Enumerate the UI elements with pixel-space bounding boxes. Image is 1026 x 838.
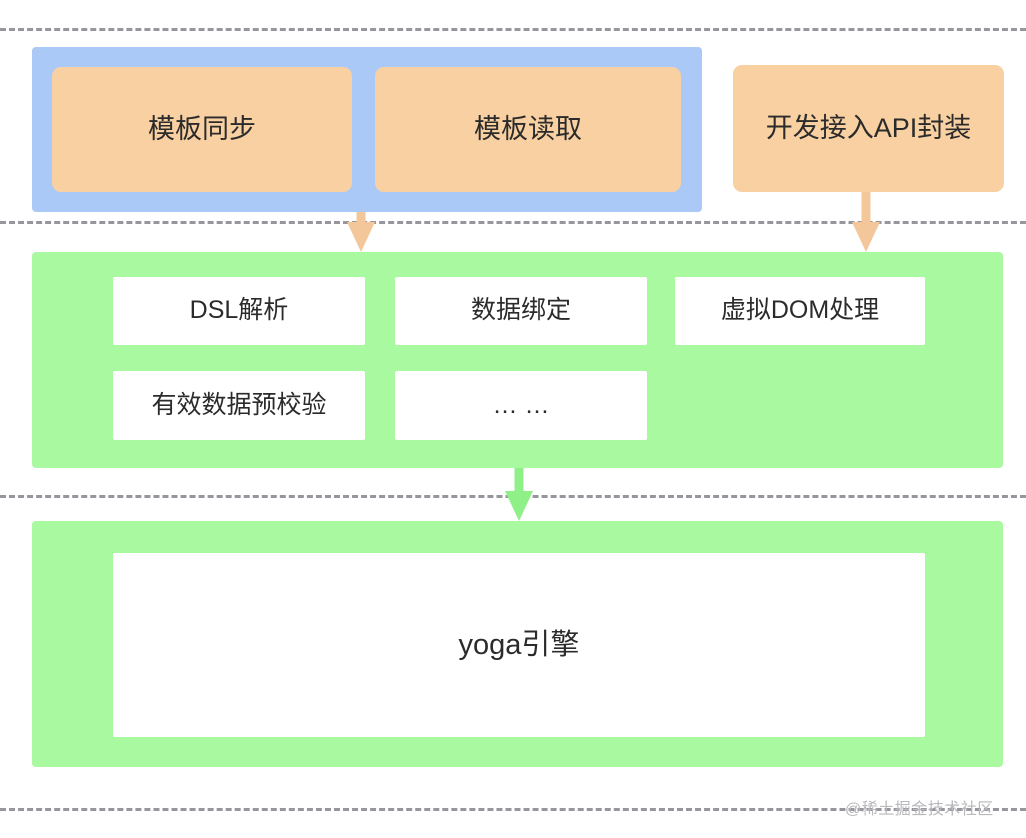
arrow-stem [862,192,871,226]
arrow-middle-to-bottom [505,468,533,521]
node-data-binding[interactable]: 数据绑定 [395,277,647,345]
node-ellipsis[interactable]: … … [395,371,647,440]
node-label: 模板读取 [474,113,582,147]
architecture-diagram: 模板同步 模板读取 开发接入API封装 DSL解析 数据绑定 虚拟DOM处理 有… [0,0,1026,838]
node-yoga-engine[interactable]: yoga引擎 [113,553,925,737]
node-label: 开发接入API封装 [766,112,972,146]
arrow-head [852,222,880,252]
node-virtual-dom[interactable]: 虚拟DOM处理 [675,277,925,345]
node-label: 虚拟DOM处理 [721,295,879,326]
node-label: yoga引擎 [459,627,580,663]
node-api-wrapper[interactable]: 开发接入API封装 [733,65,1004,192]
arrow-head [505,491,533,521]
arrow-template-group-to-middle [347,212,375,252]
node-data-prevalidation[interactable]: 有效数据预校验 [113,371,365,440]
arrow-head [347,222,375,252]
arrow-api-wrapper-to-middle [852,192,880,252]
node-label: 有效数据预校验 [151,390,326,421]
node-label: DSL解析 [190,295,289,326]
node-label: … … [493,390,550,421]
node-template-sync[interactable]: 模板同步 [52,67,352,192]
layer-divider-top [0,28,1026,31]
node-label: 模板同步 [148,113,256,147]
node-label: 数据绑定 [471,295,571,326]
node-dsl-parse[interactable]: DSL解析 [113,277,365,345]
node-template-read[interactable]: 模板读取 [375,67,681,192]
watermark: @稀土掘金技术社区 [845,795,994,819]
